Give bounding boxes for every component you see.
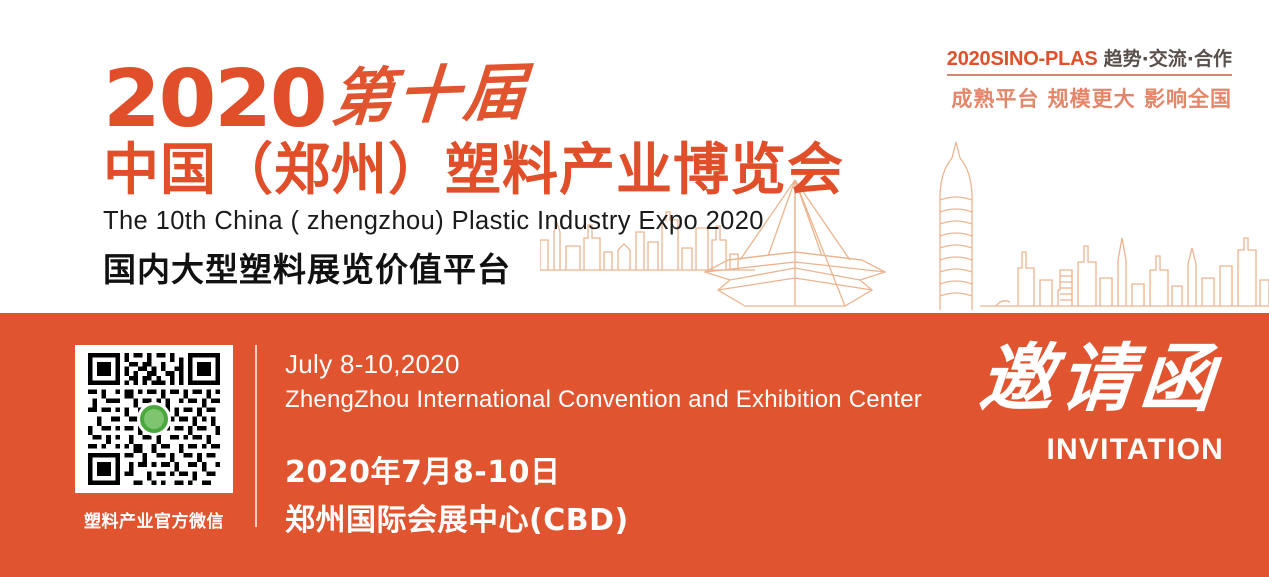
slogan-line-two: 成熟平台 规模更大 影响全国 <box>947 83 1232 113</box>
invitation-label-english: INVITATION <box>954 433 1224 467</box>
invitation-poster: 2020 第十届 中国（郑州）塑料产业博览会 The 10th China ( … <box>0 0 1269 577</box>
wechat-official-account-logo-icon <box>137 402 171 436</box>
event-date-chinese: 2020年7月8-10日 <box>285 453 922 493</box>
year-text: 2020 <box>103 62 325 136</box>
event-details-block: July 8-10,2020 ZhengZhou International C… <box>285 348 922 541</box>
vertical-divider <box>255 345 257 527</box>
event-venue-chinese: 郑州国际会展中心(CBD) <box>285 501 922 541</box>
qr-code-block: 塑料产业官方微信 <box>75 345 233 532</box>
title-block: 2020 第十届 中国（郑州）塑料产业博览会 The 10th China ( … <box>103 58 903 290</box>
invitation-calligraphy-chinese: 邀请函 <box>946 331 1224 427</box>
poster-info-section: 塑料产业官方微信 July 8-10,2020 ZhengZhou Intern… <box>0 313 1269 577</box>
edition-text: 第十届 <box>329 61 532 130</box>
main-title-english: The 10th China ( zhengzhou) Plastic Indu… <box>103 206 903 236</box>
slogan-block: 2020SINO-PLAS趋势·交流·合作 成熟平台 规模更大 影响全国 <box>947 44 1232 113</box>
main-title-chinese: 中国（郑州）塑料产业博览会 <box>103 140 903 202</box>
qr-code-frame[interactable] <box>75 345 233 493</box>
logo-inner-circle <box>144 409 164 429</box>
brand-code-text: 2020SINO-PLAS <box>947 48 1098 70</box>
invitation-block: 邀请函 INVITATION <box>954 331 1224 511</box>
title-year-row: 2020 第十届 <box>103 58 903 136</box>
event-date-english: July 8-10,2020 <box>285 348 922 380</box>
tagline-chinese: 国内大型塑料展览价值平台 <box>103 250 903 290</box>
slogan-line-one: 2020SINO-PLAS趋势·交流·合作 <box>947 44 1232 76</box>
slogan-keywords-text: 趋势·交流·合作 <box>1104 48 1232 70</box>
qr-code-caption: 塑料产业官方微信 <box>75 507 233 532</box>
poster-header-section: 2020 第十届 中国（郑州）塑料产业博览会 The 10th China ( … <box>0 0 1269 313</box>
event-venue-english: ZhengZhou International Convention and E… <box>285 384 922 416</box>
